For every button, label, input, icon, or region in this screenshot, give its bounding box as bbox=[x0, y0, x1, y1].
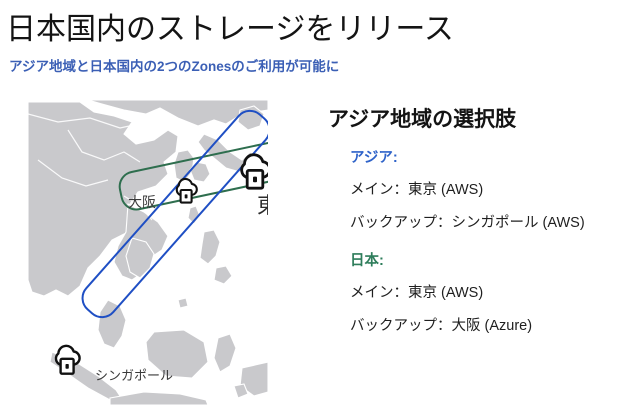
region-heading-asia: アジア: bbox=[350, 148, 616, 168]
cloud-lock-icon-osaka bbox=[169, 174, 203, 211]
region-heading-japan: 日本: bbox=[350, 251, 616, 271]
region-row-asia-main: メイン：東京 (AWS) bbox=[350, 180, 616, 200]
region-row-asia-backup: バックアップ：シンガポール (AWS) bbox=[350, 213, 616, 233]
map-label-osaka: 大阪 bbox=[128, 192, 156, 212]
page-subtitle: アジア地域と日本国内の2つのZonesのご利用が可能に bbox=[9, 58, 339, 76]
options-heading: アジア地域の選択肢 bbox=[328, 106, 616, 134]
region-group-asia: アジア: メイン：東京 (AWS) バックアップ：シンガポール (AWS) bbox=[328, 148, 616, 233]
region-row-japan-main: メイン：東京 (AWS) bbox=[350, 283, 616, 303]
region-row-japan-backup: バックアップ：大阪 (Azure) bbox=[350, 316, 616, 336]
page-title: 日本国内のストレージをリリース bbox=[6, 12, 454, 48]
map-label-tokyo: 東京 bbox=[257, 188, 268, 220]
region-group-japan: 日本: メイン：東京 (AWS) バックアップ：大阪 (Azure) bbox=[328, 251, 616, 336]
asia-map: 大阪 東京 シンガポール bbox=[28, 100, 268, 405]
region-options-panel: アジア地域の選択肢 アジア: メイン：東京 (AWS) バックアップ：シンガポー… bbox=[328, 106, 616, 336]
map-label-singapore: シンガポール bbox=[95, 365, 173, 384]
cloud-lock-icon-singapore bbox=[47, 340, 87, 383]
